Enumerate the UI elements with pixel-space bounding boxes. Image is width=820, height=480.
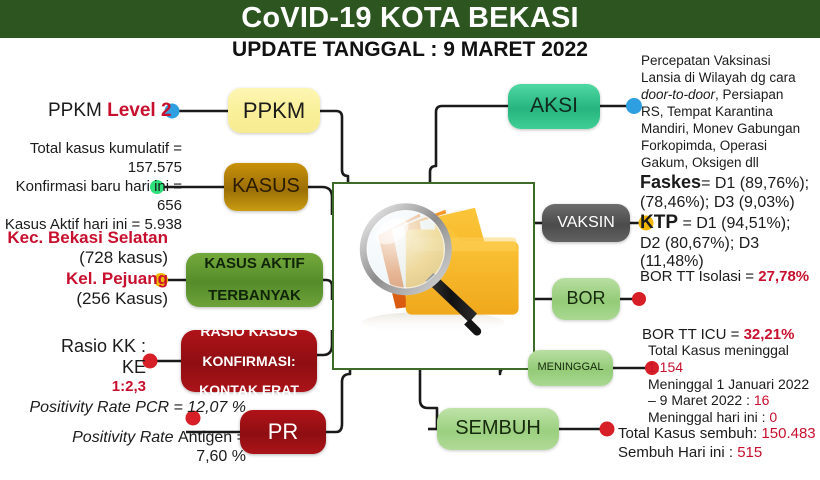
dot-aksi [626,98,642,114]
antigen-value: Antigen = [178,429,246,446]
faskes-label: Faskes [640,172,701,192]
pcr-label: Positivity Rate [29,399,135,416]
kasus-kumulatif-value: 157.575 [0,159,182,178]
kelurahan-tertinggi: Kel. Pejuang [0,269,168,289]
ktp-label: KTP [640,212,678,233]
node-sembuh[interactable]: SEMBUH [437,408,559,450]
node-bor[interactable]: BOR [552,278,620,320]
aksi-line-3-italic: door-to-door [641,87,715,102]
ppkm-level-label: PPKM [48,100,107,121]
aksi-line-7: Gakum, Oksigen dll [641,154,820,171]
node-ppkm-label: PPKM [228,99,320,122]
rasio-kk-label: Rasio KK : [18,336,146,357]
sembuh-stats-text: Total Kasus sembuh: 150.483 Sembuh Hari … [618,425,820,463]
ppkm-level-value: Level 2 [107,100,171,121]
bor-icu-text: BOR TT ICU = 32,21% [642,326,820,343]
total-meninggal-value: 1.154 [648,359,820,376]
dot-bor [632,292,646,306]
node-kasus-aktif-terbanyak[interactable]: KASUS AKTIF TERBANYAK [186,253,323,307]
node-kasus-aktif-line2: TERBANYAK [186,288,323,304]
kecamatan-tertinggi: Kec. Bekasi Selatan [0,228,168,248]
node-vaksin[interactable]: VAKSIN [542,204,630,242]
sembuh-hari-label: Sembuh Hari ini : [618,444,737,461]
meninggal-periode-value: 16 [754,392,770,408]
node-pr[interactable]: PR [240,410,326,454]
aksi-description-text: Percepatan Vaksinasi Lansia di Wilayah d… [641,52,820,171]
antigen-label: Positivity Rate [72,429,178,446]
aksi-line-2: Lansia di Wilayah dg cara [641,69,820,86]
node-meninggal-label: MENINGGAL [528,362,613,374]
node-kasus-label: KASUS [224,176,308,197]
rasio-ke-label: KE [18,357,146,378]
aksi-line-6: Forkopimda, Operasi [641,137,820,154]
positivity-rate-antigen-text: Positivity Rate Antigen = 7,60 % [6,428,246,466]
node-sembuh-label: SEMBUH [437,418,559,439]
meninggal-periode-line-1: Meninggal 1 Januari 2022 [648,376,820,393]
rasio-kk-ke-text: Rasio KK : KE 1:2,3 [18,336,146,396]
node-pr-label: PR [240,420,326,443]
antigen-number: 7,60 % [6,447,246,466]
bor-icu-label: BOR TT ICU = [642,326,744,343]
folder-magnifier-icon [334,184,533,368]
total-meninggal-label: Total Kasus meninggal [648,342,820,359]
bor-isolasi-text: BOR TT Isolasi = 27,78% [640,268,820,285]
center-illustration-frame [332,182,535,370]
bor-isolasi-value: 27,78% [758,268,809,285]
meninggal-hari-value: 0 [769,409,777,425]
node-rasio-line1: RASIO KASUS [181,324,317,339]
kasus-konfirmasi-baru: Konfirmasi baru hari ini = 656 [0,178,182,216]
bor-isolasi-label: BOR TT Isolasi = [640,268,758,285]
bor-icu-value: 32,21% [744,326,795,343]
node-meninggal[interactable]: MENINGGAL [528,350,613,386]
meninggal-stats-text: Total Kasus meninggal 1.154 Meninggal 1 … [648,342,820,426]
node-kasus[interactable]: KASUS [224,163,308,211]
sembuh-hari-value: 515 [737,444,762,461]
positivity-rate-pcr-text: Positivity Rate PCR = 12,07 % [0,398,246,417]
sembuh-total-label: Total Kasus sembuh: [618,425,761,442]
faskes-line-2: (78,46%); D3 (9,03%) [640,194,820,213]
ktp-line-2: D2 (80,67%); D3 [640,235,820,254]
sembuh-total-value: 150.483 [761,425,815,442]
node-aksi[interactable]: AKSI [508,84,600,129]
node-aksi-label: AKSI [508,95,600,117]
infographic-canvas: CoVID-19 KOTA BEKASI UPDATE TANGGAL : 9 … [0,0,820,480]
node-bor-label: BOR [552,289,620,308]
node-vaksin-label: VAKSIN [542,215,630,232]
faskes-line-1: = D1 (89,76%); [701,175,809,192]
kasus-aktif-terbanyak-text: Kec. Bekasi Selatan (728 kasus) Kel. Pej… [0,228,168,310]
node-rasio-kasus[interactable]: RASIO KASUS KONFIRMASI: KONTAK ERAT [181,330,317,392]
pcr-value: PCR = 12,07 % [135,399,246,416]
kasus-stats-text: Total kasus kumulatif = 157.575 Konfirma… [0,140,182,234]
ktp-line-1: = D1 (94,51%); [678,215,791,232]
node-kasus-aktif-line1: KASUS AKTIF [186,256,323,272]
kelurahan-tertinggi-jumlah: (256 Kasus) [0,289,168,309]
dot-sembuh [600,422,615,437]
meninggal-hari-label: Meninggal hari ini : [648,409,769,425]
kecamatan-tertinggi-jumlah: (728 kasus) [0,248,168,268]
rasio-value: 1:2,3 [18,378,146,396]
meninggal-periode-line-2: – 9 Maret 2022 : [648,392,754,408]
node-rasio-line2: KONFIRMASI: [181,354,317,369]
aksi-line-4: RS, Tempat Karantina [641,103,820,120]
node-rasio-line3: KONTAK ERAT [181,383,317,398]
kasus-kumulatif-label: Total kasus kumulatif = [0,140,182,159]
aksi-line-1: Percepatan Vaksinasi [641,52,820,69]
ppkm-level-text: PPKM Level 2 [48,100,172,122]
aksi-line-3-rest: , Persiapan [715,87,783,102]
aksi-line-5: Mandiri, Monev Gabungan [641,120,820,137]
node-ppkm[interactable]: PPKM [228,88,320,133]
vaksin-stats-text: Faskes= D1 (89,76%); (78,46%); D3 (9,03%… [640,172,820,272]
